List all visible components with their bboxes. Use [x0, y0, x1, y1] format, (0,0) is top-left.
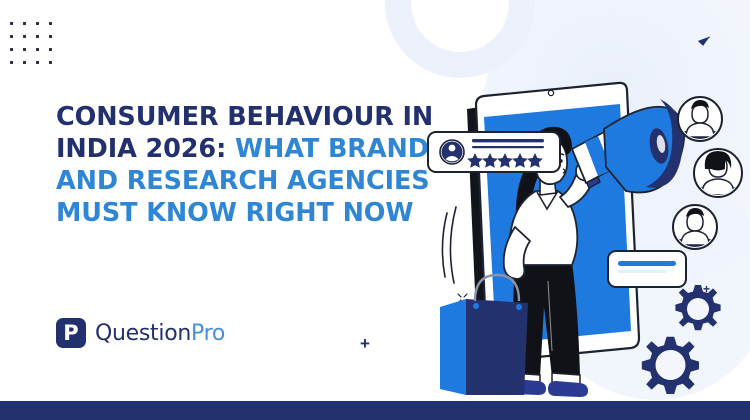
dot-grid — [10, 22, 62, 74]
motion-lines — [442, 207, 456, 283]
notification-card — [608, 251, 686, 287]
gear-small — [675, 285, 720, 330]
avatar-circle-1 — [678, 97, 722, 151]
avatar-circle-2 — [694, 149, 742, 211]
page-title: CONSUMER BEHAVIOUR IN INDIA 2026: WHAT B… — [56, 101, 456, 230]
review-card — [428, 132, 560, 172]
gear-large — [642, 337, 699, 394]
logo-wordmark: QuestionPro — [95, 321, 225, 346]
questionpro-logo[interactable]: P QuestionPro — [56, 318, 225, 348]
logo-mark-glyph: P — [56, 318, 86, 348]
logo-word-pro: Pro — [191, 321, 225, 346]
hero-illustration — [420, 55, 750, 410]
bottom-accent-bar — [0, 401, 750, 420]
send-triangle-icon — [696, 34, 712, 50]
logo-mark-icon: P — [56, 318, 86, 348]
hero-banner: + + + CONSUMER BEHAVIOUR IN INDIA 2026: … — [0, 0, 750, 420]
logo-word-question: Question — [95, 321, 191, 346]
plus-mark-left: + — [360, 335, 370, 352]
